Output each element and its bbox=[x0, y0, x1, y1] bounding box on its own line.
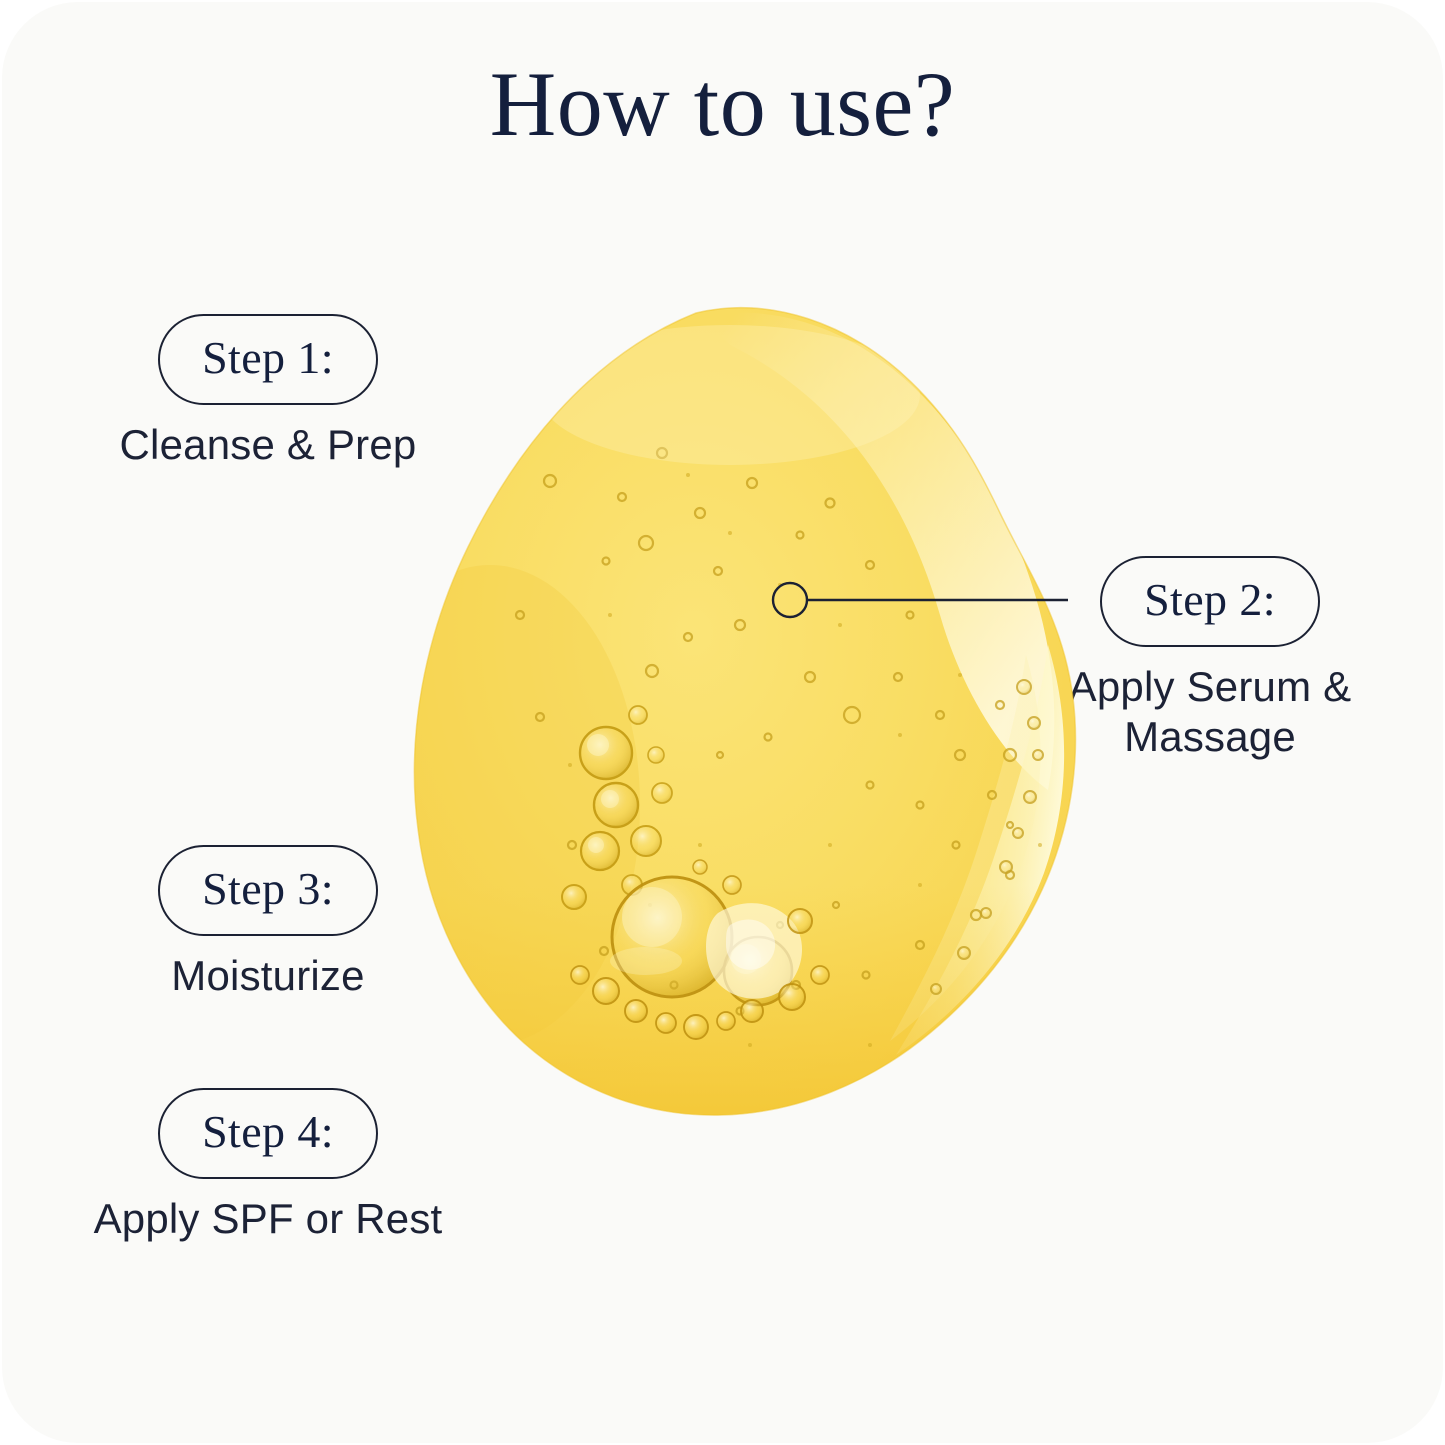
serum-droplet-image bbox=[400, 285, 1100, 1155]
infographic-canvas: How to use? bbox=[0, 0, 1445, 1445]
step-3-badge[interactable]: Step 3: bbox=[158, 845, 378, 936]
step-2-badge[interactable]: Step 2: bbox=[1100, 556, 1320, 647]
step-4-caption: Apply SPF or Rest bbox=[48, 1194, 488, 1244]
step-1-badge[interactable]: Step 1: bbox=[158, 314, 378, 405]
page-title: How to use? bbox=[0, 56, 1445, 153]
step-4-badge[interactable]: Step 4: bbox=[158, 1088, 378, 1179]
